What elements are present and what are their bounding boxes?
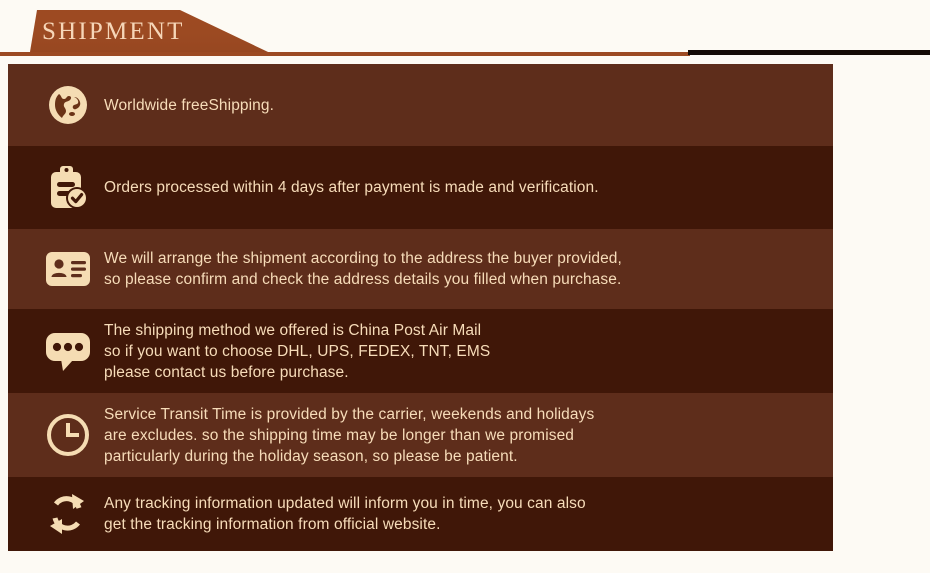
info-row-text: We will arrange the shipment according t… xyxy=(104,248,622,290)
id-card-icon xyxy=(32,250,104,288)
info-row-text: Any tracking information updated will in… xyxy=(104,493,586,535)
clipboard-check-icon xyxy=(32,164,104,212)
info-row-text: Service Transit Time is provided by the … xyxy=(104,404,594,467)
globe-icon xyxy=(32,83,104,127)
info-row-text: The shipping method we offered is China … xyxy=(104,320,490,383)
info-row-shipping-method: The shipping method we offered is China … xyxy=(8,309,833,393)
refresh-cycle-icon xyxy=(32,490,104,538)
clock-icon xyxy=(32,412,104,458)
info-row-order-processing: Orders processed within 4 days after pay… xyxy=(8,146,833,229)
info-row-text: Worldwide freeShipping. xyxy=(104,95,274,116)
speech-bubble-icon xyxy=(32,329,104,373)
info-row-address-confirmation: We will arrange the shipment according t… xyxy=(8,229,833,309)
info-row-text: Orders processed within 4 days after pay… xyxy=(104,177,599,198)
page-title: SHIPMENT xyxy=(42,18,185,46)
info-row-tracking-info: Any tracking information updated will in… xyxy=(8,477,833,551)
info-row-worldwide-shipping: Worldwide freeShipping. xyxy=(8,64,833,146)
shipment-info-panel: Worldwide freeShipping. Orders processed… xyxy=(8,64,833,551)
info-row-transit-time: Service Transit Time is provided by the … xyxy=(8,393,833,477)
header-banner: SHIPMENT xyxy=(0,0,930,62)
